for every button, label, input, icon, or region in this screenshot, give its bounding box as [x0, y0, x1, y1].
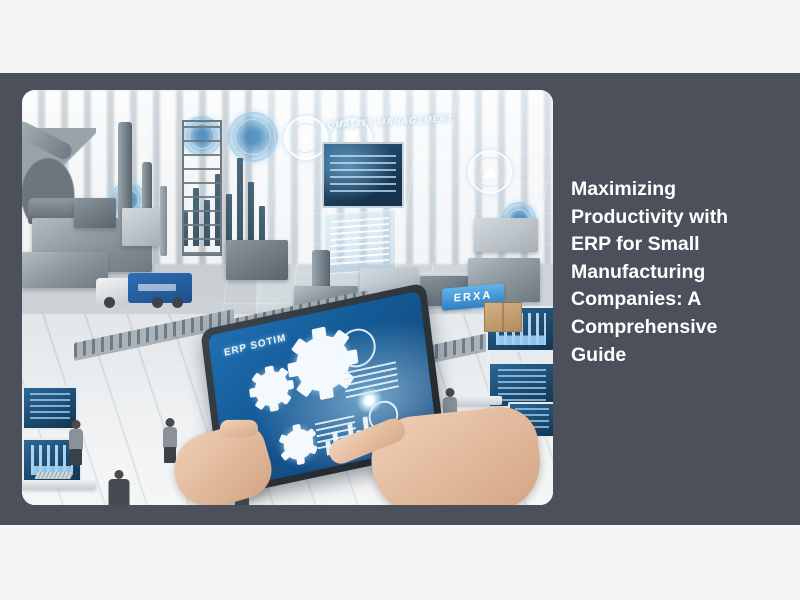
- cardboard-box: [484, 302, 522, 332]
- worker-torso: [109, 479, 130, 505]
- worker-figure: [162, 418, 177, 462]
- scaffold-structure: [182, 120, 222, 256]
- worker-head: [71, 420, 80, 429]
- worker-torso: [69, 429, 83, 450]
- keyboard: [34, 472, 73, 479]
- gear-icon-small: [253, 368, 290, 409]
- machine-unit: [122, 208, 160, 246]
- article-hero-card: QUALITY MANAGEMENT: [0, 73, 800, 525]
- screen-data-rows: [330, 155, 396, 195]
- machine-unit: [474, 218, 538, 252]
- arrow-up-glyph: [299, 132, 313, 144]
- factory-scene-illustration: QUALITY MANAGEMENT: [22, 90, 553, 505]
- worker-head: [115, 470, 124, 479]
- machine-unit: [226, 240, 288, 280]
- holo-document-sheet: [324, 209, 396, 274]
- finger: [220, 420, 258, 437]
- worker-torso: [163, 427, 177, 448]
- circle-arrow-up-icon: [468, 150, 512, 194]
- machine-unit: [74, 198, 116, 228]
- article-title: Maximizing Productivity with ERP for Sma…: [571, 176, 766, 369]
- worker-head: [445, 388, 454, 397]
- pipe: [160, 186, 167, 256]
- desk: [22, 480, 96, 489]
- worker-figure: [108, 470, 130, 505]
- worker-figure: [68, 420, 83, 464]
- truck-wheel: [172, 297, 183, 308]
- truck-wheel: [104, 297, 115, 308]
- arrow-up-glyph: [483, 166, 497, 178]
- worker-head: [165, 418, 174, 427]
- holo-screen-panel: [322, 142, 404, 208]
- truck-wheel: [152, 297, 163, 308]
- delivery-truck: [96, 268, 192, 308]
- hero-image: QUALITY MANAGEMENT: [22, 90, 553, 505]
- right-hand-pointing: [367, 404, 545, 505]
- worker-legs: [164, 447, 176, 463]
- worker-legs: [70, 449, 82, 465]
